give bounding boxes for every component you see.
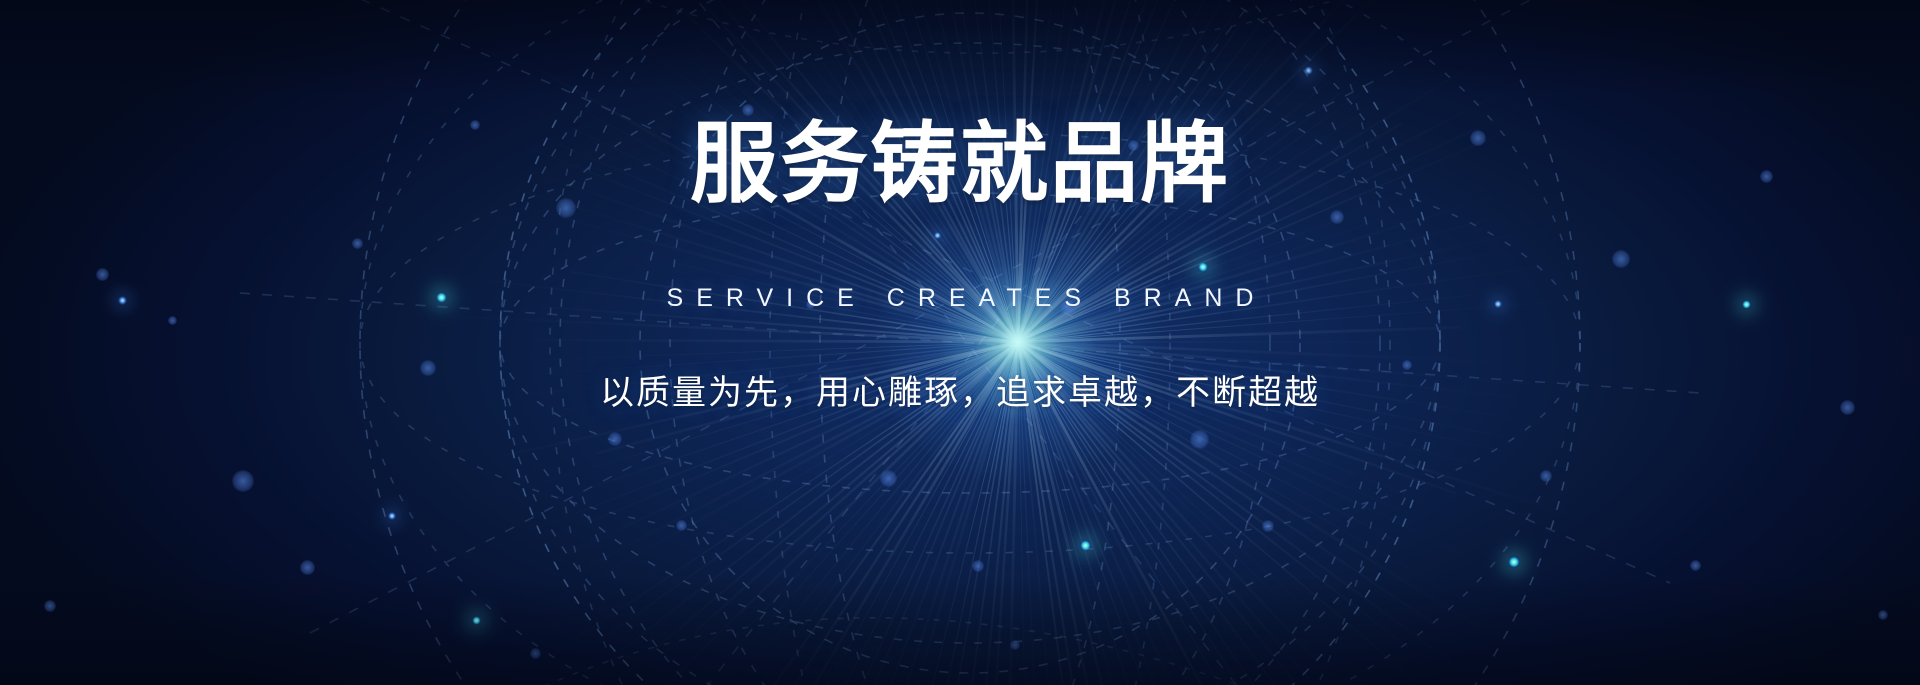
- hero-banner: 服务铸就品牌 SERVICE CREATES BRAND 以质量为先，用心雕琢，…: [0, 0, 1920, 685]
- banner-subtitle: SERVICE CREATES BRAND: [654, 284, 1267, 313]
- banner-headline: 服务铸就品牌: [690, 118, 1230, 210]
- banner-content: 服务铸就品牌 SERVICE CREATES BRAND 以质量为先，用心雕琢，…: [0, 0, 1920, 685]
- banner-tagline: 以质量为先，用心雕琢，追求卓越，不断超越: [600, 365, 1320, 414]
